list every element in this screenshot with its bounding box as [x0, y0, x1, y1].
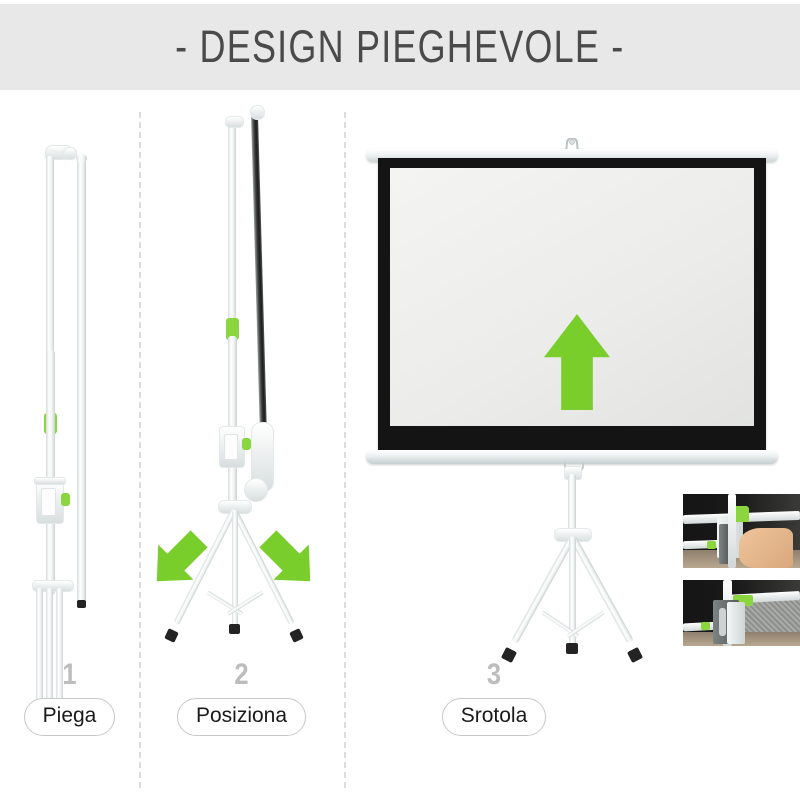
step-label-1[interactable]: Piega [24, 698, 116, 736]
telescopic-pole-upper [46, 156, 54, 361]
case-top-knob [250, 105, 265, 120]
step-panel-3: 3 Srotola [344, 100, 800, 800]
clamp-lock-photo [683, 580, 800, 646]
standing-tripod-illustration [139, 100, 344, 640]
inset-hand [739, 528, 793, 568]
step-panel-2: 2 Posiziona [139, 100, 344, 800]
inset-green-tab-side [701, 622, 710, 630]
screen-frame [378, 158, 766, 456]
tripod-foot-right [289, 628, 304, 643]
step-caption-1: 1 Piega [0, 660, 139, 736]
telescopic-pole-upper [228, 122, 236, 327]
telescopic-pole-lower [46, 350, 55, 595]
pull-up-arrow [544, 314, 610, 410]
screen-projection-surface [390, 168, 754, 426]
telescopic-pole-lower [228, 336, 237, 506]
inset-clamp-slot [719, 608, 726, 636]
step-caption-3: 3 Srotola [344, 660, 644, 736]
screen-case-cap-bottom [77, 600, 86, 608]
step-label-3[interactable]: Srotola [442, 698, 547, 736]
tripod-foot-left [164, 628, 179, 643]
step-number-3: 3 [367, 660, 622, 690]
step-number-1: 1 [10, 660, 128, 690]
step-number-2: 2 [154, 660, 328, 690]
step-caption-2: 2 Posiziona [139, 660, 344, 736]
tripod-center-pole [568, 474, 576, 532]
screen-bracket-window [41, 488, 56, 516]
pole-top-cap [225, 116, 244, 128]
case-roller-end [244, 478, 268, 502]
bracket-release-green [242, 438, 251, 450]
screen-case-tube [77, 158, 86, 603]
header-band: - DESIGN PIEGHEVOLE - [0, 4, 800, 90]
inset-green-tab-side [707, 541, 716, 549]
inset-pole [728, 494, 736, 568]
step-panel-1: 1 Piega [0, 100, 139, 800]
tripod-foot-center [229, 624, 240, 634]
top-elbow-cap [63, 147, 77, 160]
clamp-release-photo [683, 494, 800, 568]
screen-bracket-window [224, 434, 238, 460]
bracket-top-plate [34, 477, 66, 485]
page-title: - DESIGN PIEGHEVOLE - [175, 21, 624, 73]
leg-brace-left [206, 590, 244, 616]
screen-case-cap-top [76, 154, 87, 163]
step-label-2[interactable]: Posiziona [177, 698, 306, 736]
inset-clamp-body [727, 602, 745, 644]
bracket-release-green [61, 493, 70, 506]
product-infographic: - DESIGN PIEGHEVOLE - [0, 0, 800, 800]
tripod-foot-center [566, 643, 578, 654]
folded-tripod-illustration [0, 100, 139, 620]
